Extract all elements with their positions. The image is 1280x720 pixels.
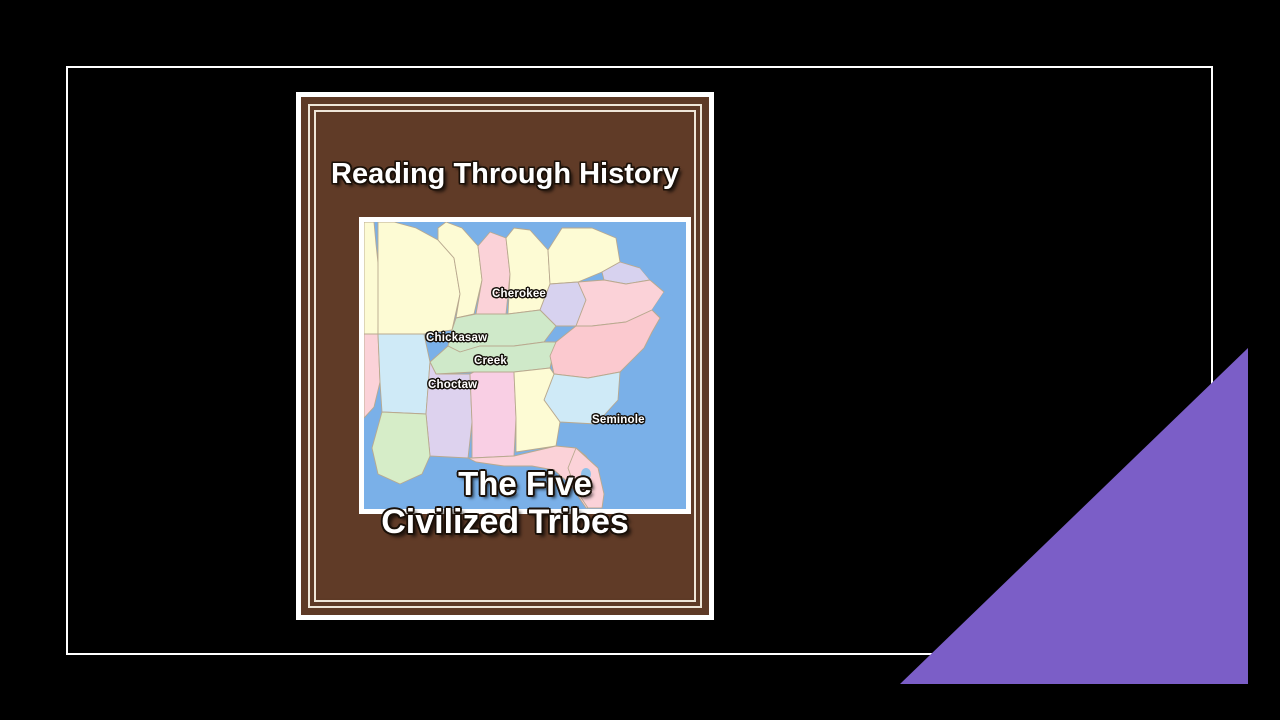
map-canvas: Cherokee Chickasaw Creek Choctaw Seminol… (364, 222, 686, 509)
state-arkansas (378, 334, 430, 414)
tribe-label-cherokee: Cherokee (492, 288, 546, 300)
cover-inner-panel: Reading Through History (318, 114, 692, 598)
purple-corner-triangle (900, 348, 1248, 684)
slide-canvas: Reading Through History (0, 0, 1280, 720)
tribe-label-choctaw: Choctaw (428, 379, 477, 391)
tribe-label-creek: Creek (474, 355, 507, 367)
map-panel: Cherokee Chickasaw Creek Choctaw Seminol… (359, 217, 691, 514)
state-mississippi (426, 362, 472, 458)
tribe-label-chickasaw: Chickasaw (426, 332, 487, 344)
cover-title-top: Reading Through History (331, 158, 679, 191)
state-texas (364, 334, 380, 418)
cover-outer-frame: Reading Through History (301, 97, 709, 615)
map-overlay-title: The Five (364, 465, 686, 503)
triangle-shape (900, 348, 1248, 684)
state-indiana (476, 232, 510, 314)
tribe-label-seminole: Seminole (592, 414, 645, 426)
cover-title-bottom: Civilized Tribes (318, 503, 692, 542)
book-cover-image[interactable]: Reading Through History (296, 92, 714, 620)
